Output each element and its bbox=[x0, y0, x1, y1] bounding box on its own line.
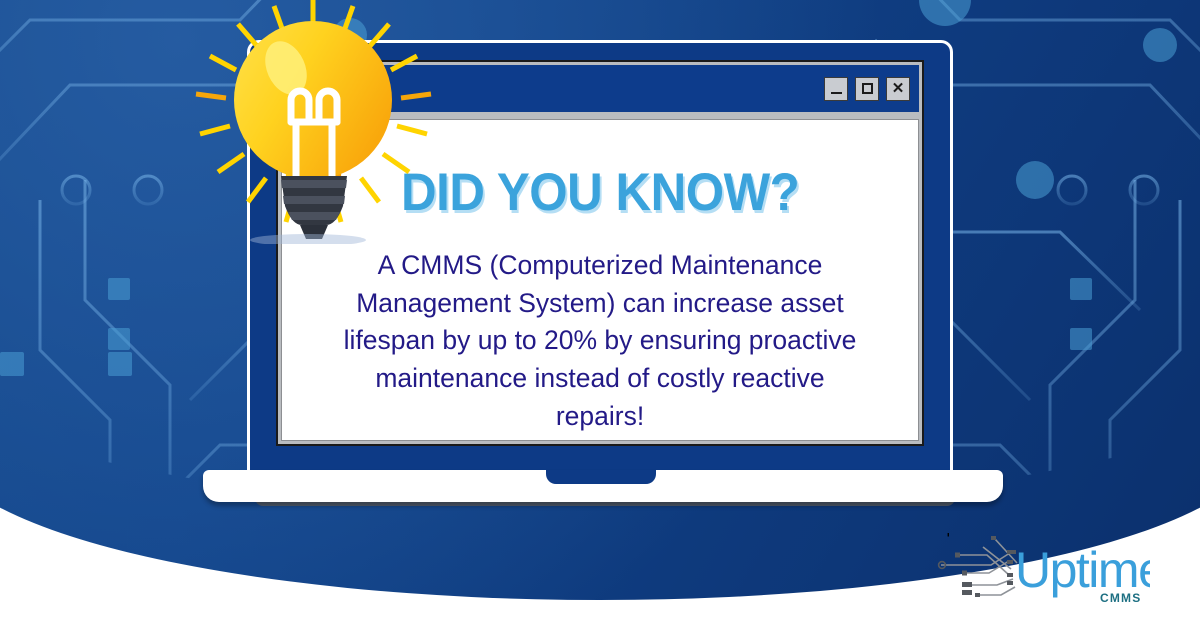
logo-circuit-mark bbox=[941, 539, 1017, 595]
page-title: DID YOU KNOW? bbox=[401, 162, 799, 223]
poster-canvas: _ □ ✕ DID YOU KNOW? A CMMS (Computerized… bbox=[0, 0, 1200, 627]
bulb-base bbox=[281, 176, 347, 239]
close-icon[interactable]: ✕ bbox=[886, 77, 910, 101]
svg-text:CMMS: CMMS bbox=[935, 533, 984, 537]
brand-logo: Uptime CMMS Uptime CMMS bbox=[935, 533, 1150, 605]
svg-text:CMMS: CMMS bbox=[1100, 591, 1141, 605]
fact-body-text: A CMMS (Computerized Maintenance Managem… bbox=[340, 247, 860, 435]
logo-circuit-pads bbox=[939, 536, 1016, 597]
svg-text:Uptime: Uptime bbox=[1015, 542, 1150, 598]
laptop-hinge-notch bbox=[546, 470, 656, 484]
bulb-glass bbox=[234, 21, 392, 179]
maximize-icon[interactable]: □ bbox=[855, 77, 879, 101]
light-bulb-icon bbox=[178, 0, 448, 244]
logo-wordmark: Uptime CMMS bbox=[1015, 542, 1150, 605]
minimize-icon[interactable]: _ bbox=[824, 77, 848, 101]
bulb-shadow bbox=[250, 234, 366, 244]
